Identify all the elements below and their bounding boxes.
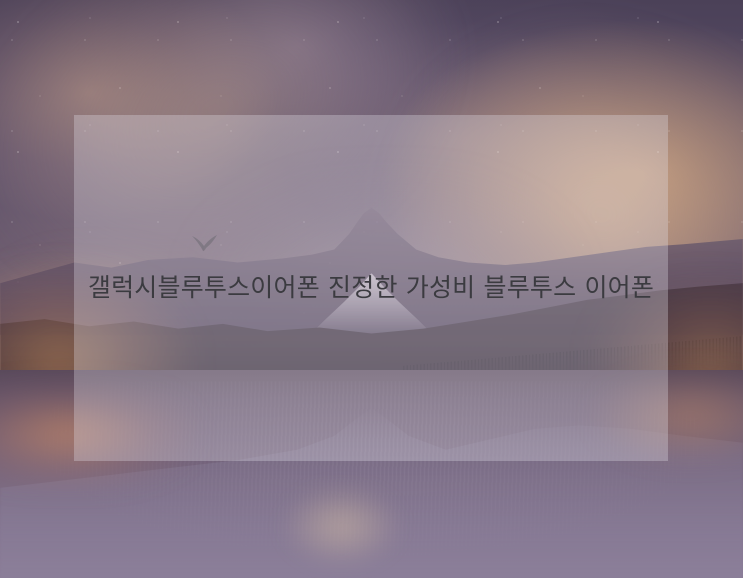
hero-banner: 갤럭시블루투스이어폰 진정한 가성비 블루투스 이어폰	[0, 0, 743, 578]
page-title: 갤럭시블루투스이어폰 진정한 가성비 블루투스 이어폰	[74, 270, 668, 306]
title-overlay-panel: 갤럭시블루투스이어폰 진정한 가성비 블루투스 이어폰	[74, 115, 668, 461]
lake-mist	[282, 486, 401, 567]
